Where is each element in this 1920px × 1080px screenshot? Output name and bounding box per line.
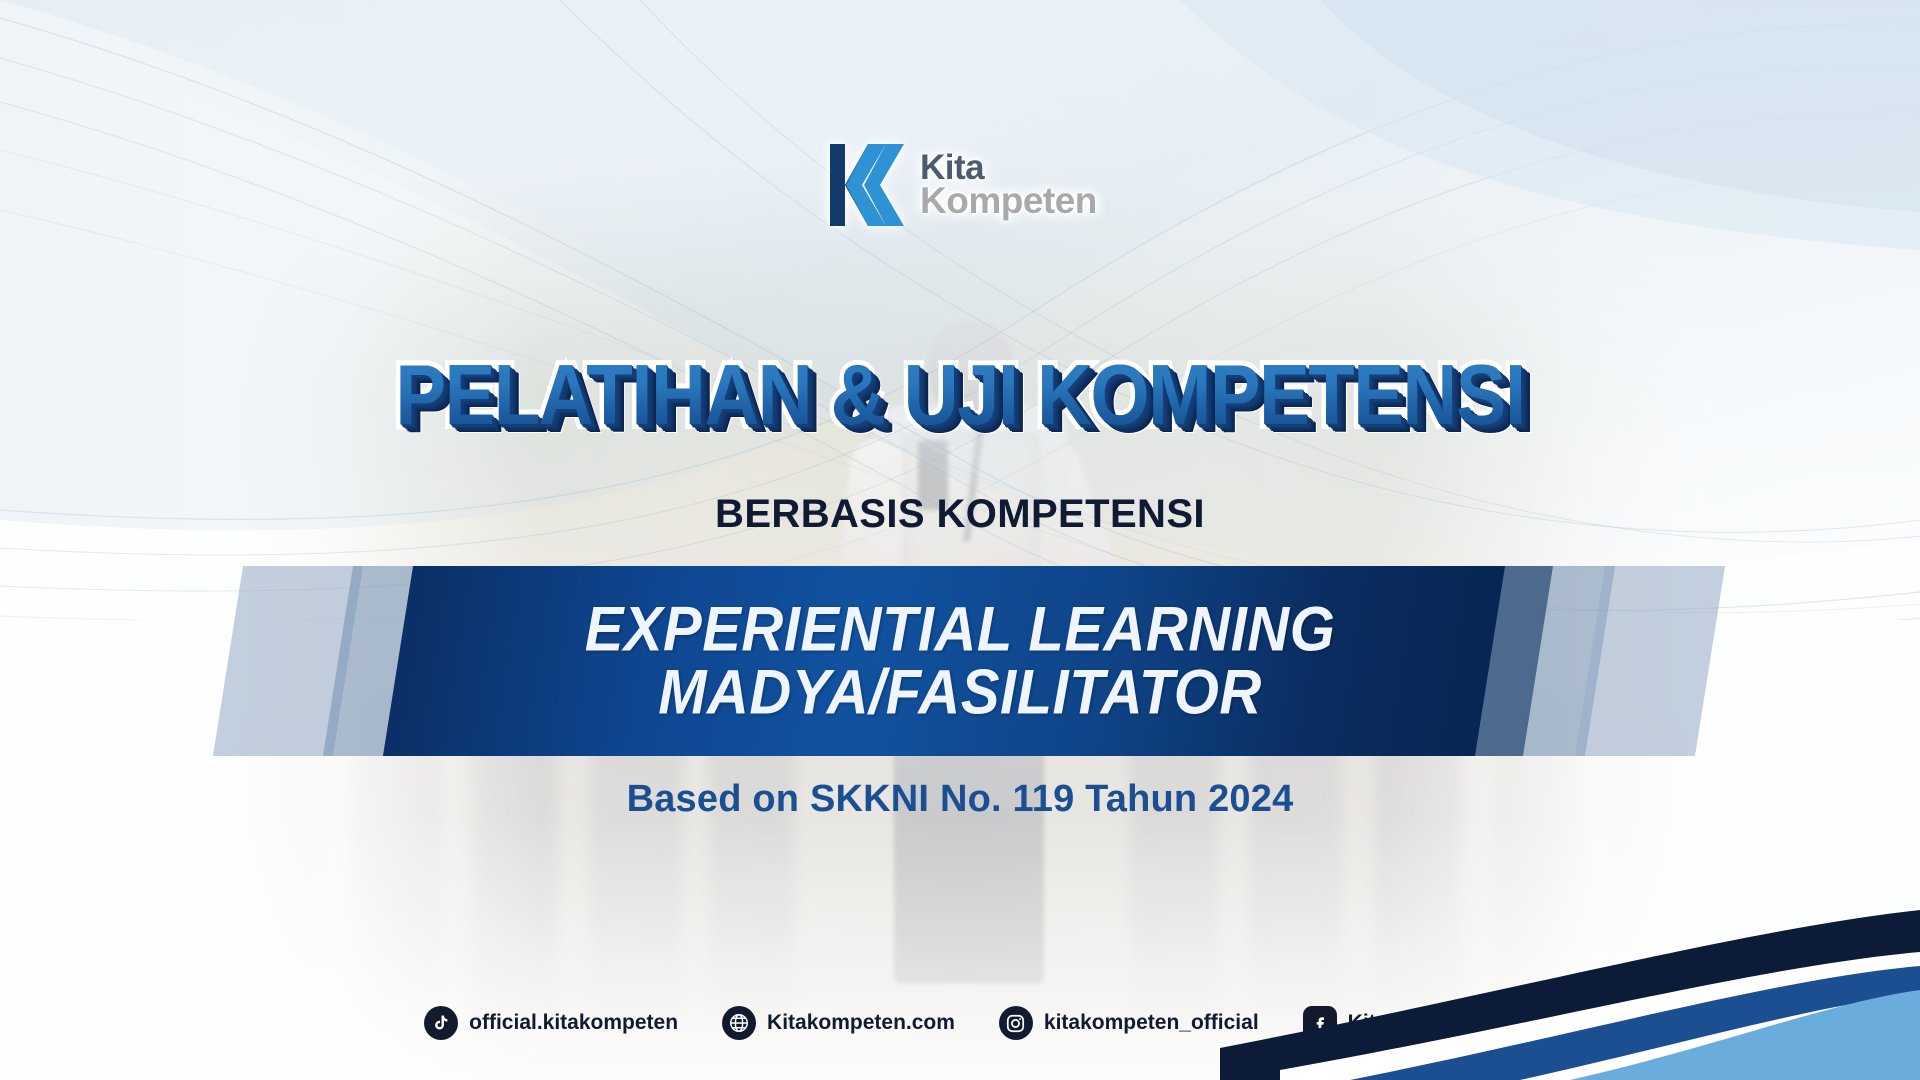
page-subtitle: BERBASIS KOMPETENSI bbox=[0, 492, 1920, 537]
standard-reference: Based on SKKNI No. 119 Tahun 2024 bbox=[0, 778, 1920, 821]
poster-canvas: Kita Kompeten PELATIHAN & UJI KOMPETENSI… bbox=[0, 0, 1920, 1080]
brand-name-line2: Kompeten bbox=[920, 184, 1097, 218]
page-title: PELATIHAN & UJI KOMPETENSI PELATIHAN & U… bbox=[395, 347, 1524, 444]
tiktok-icon bbox=[424, 1006, 458, 1040]
social-label-facebook: Kita Kompeten bbox=[1348, 1011, 1496, 1035]
social-item-website[interactable]: Kitakompeten.com bbox=[722, 1006, 955, 1040]
social-label-website: Kitakompeten.com bbox=[767, 1011, 955, 1035]
brand-logo: Kita Kompeten bbox=[828, 142, 1097, 228]
instagram-icon bbox=[999, 1006, 1033, 1040]
brand-wordmark: Kita Kompeten bbox=[920, 152, 1097, 218]
social-label-instagram: kitakompeten_official bbox=[1044, 1011, 1259, 1035]
social-label-tiktok: official.kitakompeten bbox=[469, 1011, 678, 1035]
social-item-tiktok[interactable]: official.kitakompeten bbox=[424, 1006, 678, 1040]
course-title-line2: MADYA/FASILITATOR bbox=[658, 660, 1262, 726]
kk-monogram-icon bbox=[828, 142, 906, 228]
headline-face: PELATIHAN & UJI KOMPETENSI bbox=[395, 348, 1524, 443]
globe-icon bbox=[722, 1006, 756, 1040]
course-title-line1: EXPERIENTIAL LEARNING bbox=[585, 596, 1336, 662]
headline-container: PELATIHAN & UJI KOMPETENSI PELATIHAN & U… bbox=[0, 352, 1920, 439]
social-item-facebook[interactable]: Kita Kompeten bbox=[1303, 1006, 1496, 1040]
facebook-icon bbox=[1303, 1006, 1337, 1040]
social-item-instagram[interactable]: kitakompeten_official bbox=[999, 1006, 1259, 1040]
social-links-bar: official.kitakompeten Kitakompeten.com bbox=[0, 1006, 1920, 1040]
course-banner: EXPERIENTIAL LEARNING MADYA/FASILITATOR bbox=[0, 566, 1920, 756]
banner-text-block: EXPERIENTIAL LEARNING MADYA/FASILITATOR bbox=[0, 566, 1920, 756]
